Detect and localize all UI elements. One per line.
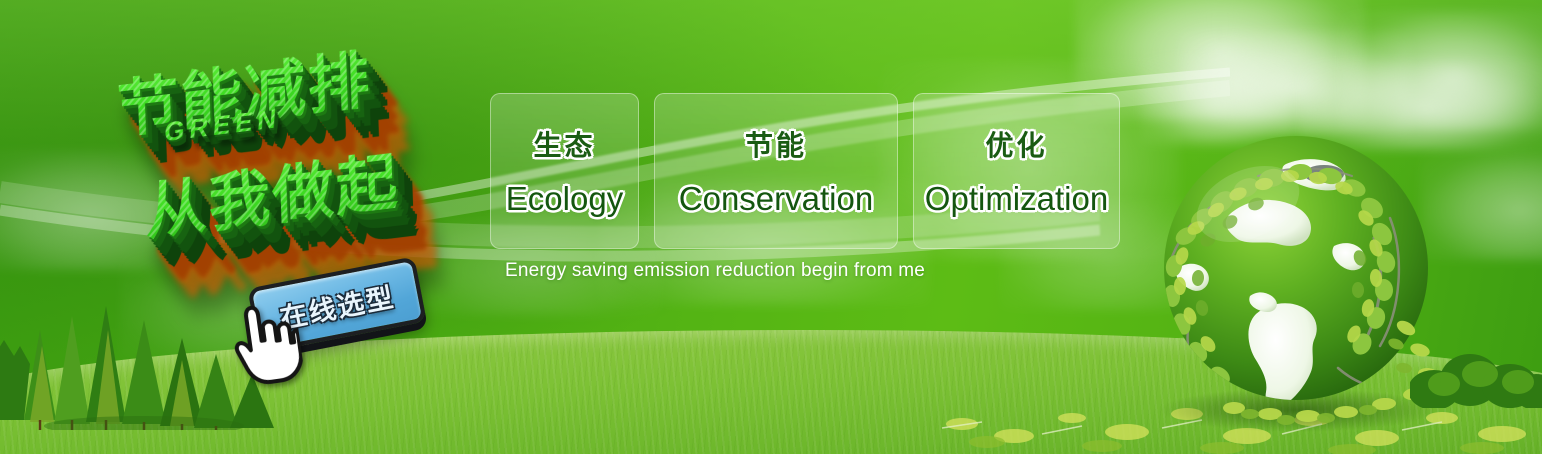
- feature-card-optimization[interactable]: 优化 Optimization: [913, 93, 1120, 249]
- feature-card-title-en: Optimization: [925, 180, 1108, 218]
- headline-line-3: 从我做起: [143, 130, 400, 251]
- feature-card-conservation[interactable]: 节能 Conservation: [654, 93, 898, 249]
- bush-icon: [1410, 332, 1542, 408]
- energy-saving-green-banner: 节能减排 GREEN 从我做起 在线选型 生态 Ecology 节能 Conse…: [0, 0, 1542, 454]
- feature-card-title-cn: 优化: [985, 124, 1047, 164]
- banner-tagline: Energy saving emission reduction begin f…: [505, 260, 925, 282]
- feature-card-title-en: Conservation: [679, 180, 873, 218]
- feature-card-list: 生态 Ecology 节能 Conservation 优化 Optimizati…: [490, 93, 1120, 249]
- feature-card-ecology[interactable]: 生态 Ecology: [490, 93, 639, 249]
- feature-card-title-cn: 生态: [533, 124, 595, 164]
- headline-3d-artwork: 节能减排 GREEN 从我做起: [92, 38, 492, 268]
- feature-card-title-cn: 节能: [745, 124, 807, 164]
- feature-card-title-en: Ecology: [506, 180, 623, 218]
- pointing-hand-cursor-icon: [228, 296, 305, 390]
